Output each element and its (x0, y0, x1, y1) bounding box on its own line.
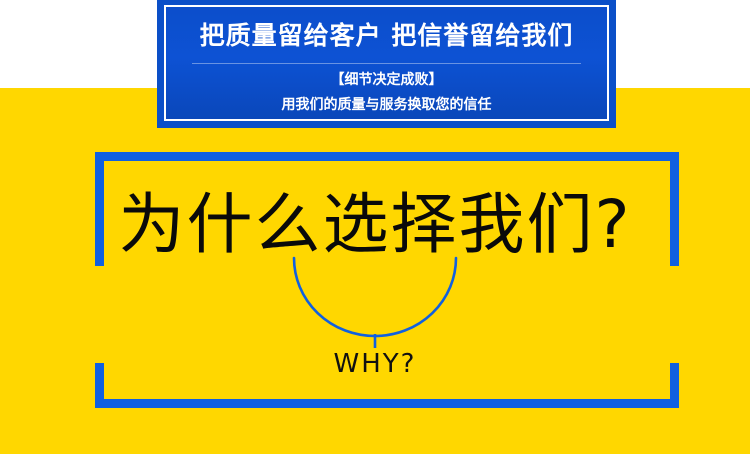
banner-divider (192, 63, 581, 64)
banner-inner-border: 把质量留给客户 把信誉留给我们 【细节决定成败】 用我们的质量与服务换取您的信任 (164, 5, 609, 121)
frame-bottom-edge (95, 399, 679, 408)
banner-headline: 把质量留给客户 把信誉留给我们 (166, 20, 607, 52)
frame-top-edge (95, 152, 679, 161)
why-label: WHY? (0, 348, 750, 380)
banner-subtitle-secondary: 用我们的质量与服务换取您的信任 (166, 94, 607, 116)
page-title: 为什么选择我们? (0, 186, 750, 264)
poster-canvas: 把质量留给客户 把信誉留给我们 【细节决定成败】 用我们的质量与服务换取您的信任… (0, 0, 750, 454)
banner-subtitle-primary: 【细节决定成败】 (166, 69, 607, 91)
top-banner: 把质量留给客户 把信誉留给我们 【细节决定成败】 用我们的质量与服务换取您的信任 (157, 0, 616, 128)
why-label-text: WHY? (325, 348, 426, 380)
